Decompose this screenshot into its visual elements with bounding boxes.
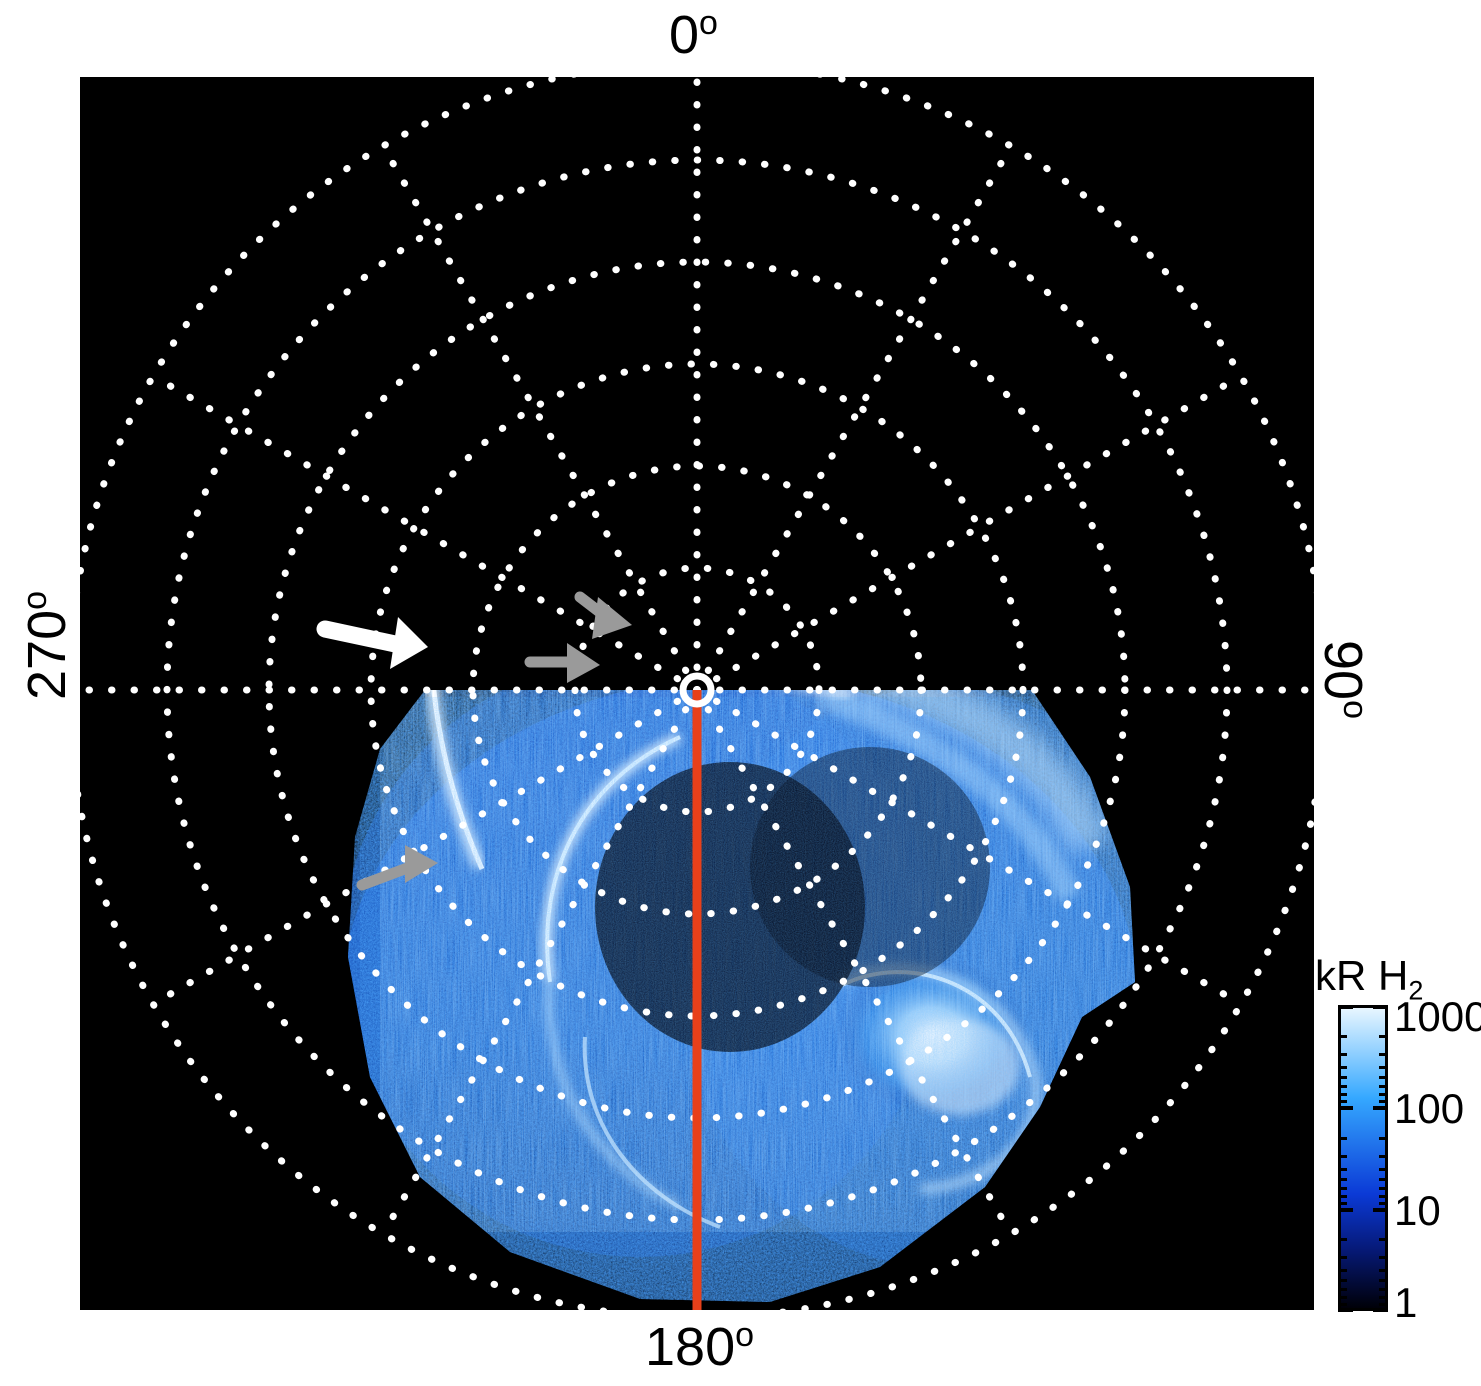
polar-plot-svg [80,77,1314,1310]
colorbar-tick-100: 100 [1394,1088,1464,1130]
colorbar-gradient [1338,1005,1388,1311]
azimuth-label-180: 180o [645,1318,754,1374]
auroral-emission-field [340,595,1200,1310]
colorbar-tick-1000: 1000 [1394,996,1481,1038]
colorbar [1338,1005,1388,1311]
gray-arrow-2-icon [530,643,600,683]
colorbar-tick-10: 10 [1394,1190,1441,1232]
figure-root: 0o 180o 270o 90o kR H2 [0,0,1481,1386]
colorbar-tick-1: 1 [1394,1282,1417,1324]
polar-plot-area [80,77,1314,1310]
white-arrow-1-icon [325,617,428,669]
gray-arrow-1-icon [580,597,632,639]
azimuth-label-0: 0o [669,6,718,62]
